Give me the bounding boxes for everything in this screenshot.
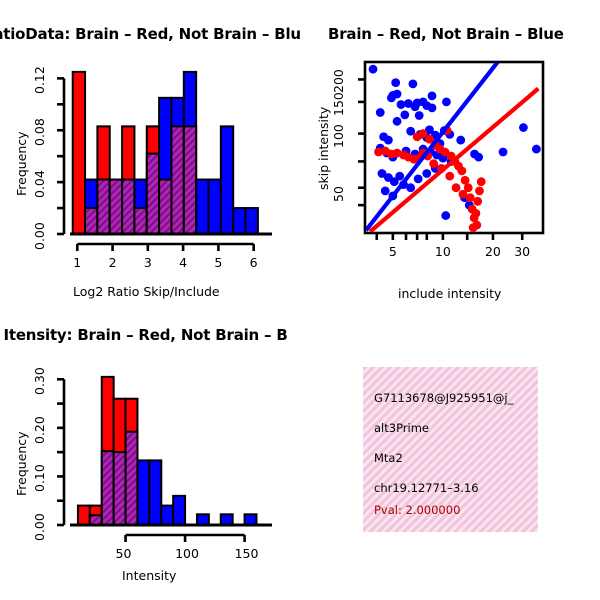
scatter-point [397,100,406,109]
scatter-point [499,148,508,157]
panel-annotation: G7113678@J925951@j_ alt3Prime Mta2 chr19… [300,310,600,600]
panel3-x-axis-label: Intensity [122,568,176,583]
panel2-xtick-10: 10 [435,244,451,259]
scatter-point [519,123,528,132]
scatter-point [459,190,468,199]
scatter-point [414,174,423,183]
histogram-bin [97,126,109,234]
info-line-pval: Pval: 2.000000 [374,503,460,517]
panel1-ytick-0: 0.00 [32,222,47,250]
panel1-ytick-2: 0.08 [32,118,47,146]
scatter-point [381,186,390,195]
scatter-point [532,145,541,154]
scatter-point [452,183,461,192]
panel1-xtick-1: 1 [73,255,81,270]
scatter-point [457,167,466,176]
histogram-bin [245,514,257,525]
scatter-point [442,97,451,106]
histogram-bin [197,514,209,525]
panel3-y-axis-label: Frequency [14,431,29,496]
histogram-bin [221,126,233,234]
scatter-point [406,183,415,192]
histogram-bin [137,460,149,525]
histogram-bin [159,98,171,234]
scatter-point [393,117,402,126]
panel1-xtick-5: 5 [214,255,222,270]
scatter-point [477,177,486,186]
scatter-point [429,159,438,168]
panel2-plot [300,0,600,310]
scatter-point [411,102,420,111]
histogram-bin [90,506,102,525]
histogram-bin [110,180,122,234]
histogram-bin [221,514,233,525]
panel3-ytick-2: 0.20 [32,416,47,444]
scatter-point [387,93,396,102]
histogram-bin [134,180,146,234]
panel1-xtick-6: 6 [250,255,258,270]
panel-intensity-scatter: Brain – Red, Not Brain – Blue include in… [300,0,600,310]
panel3-ytick-3: 0.30 [32,367,47,395]
panel2-xtick-20: 20 [485,244,501,259]
panel-ratio-histogram: RatioData: Brain – Red, Not Brain – Blu … [0,0,300,310]
panel2-y-axis-label: skip intensity [316,107,331,190]
scatter-point [369,65,378,74]
panel2-x-axis-label: include intensity [398,286,501,301]
scatter-point [422,169,431,178]
histogram-bin [147,126,159,234]
info-line-coordinates: chr19.12771–3.16 [374,481,479,495]
histogram-bin [209,180,221,234]
scatter-point [428,91,437,100]
panel2-xtick-5: 5 [389,244,397,259]
info-line-event-id: G7113678@J925951@j_ [374,391,513,405]
scatter-point [400,111,409,120]
panel3-xtick-50: 50 [116,546,132,561]
scatter-point [473,197,482,206]
panel2-plot-frame [365,62,543,233]
panel1-y-axis-label: Frequency [14,131,29,196]
scatter-point [391,78,400,87]
scatter-point [376,108,385,117]
scatter-point [384,136,393,145]
scatter-point [395,172,404,181]
panel1-ytick-3: 0.12 [32,67,47,95]
histogram-bin [149,460,161,525]
figure-canvas: RatioData: Brain – Red, Not Brain – Blu … [0,0,600,600]
panel1-ytick-1: 0.04 [32,170,47,198]
scatter-point [445,172,454,181]
scatter-point [415,111,424,120]
panel2-ytick-200: 200 [331,70,346,94]
panel2-ytick-50: 50 [331,186,346,202]
info-line-gene-symbol: Mta2 [374,451,403,465]
panel2-data-layer [366,61,541,232]
info-box: G7113678@J925951@j_ alt3Prime Mta2 chr19… [363,367,538,532]
panel3-ytick-1: 0.10 [32,465,47,493]
scatter-point [456,136,465,145]
panel3-ytick-0: 0.00 [32,513,47,541]
scatter-point [472,209,481,218]
histogram-bin [122,126,134,234]
panel-gene-intensity-histogram: ne Itensity: Brain – Red, Not Brain – B … [0,310,300,600]
histogram-bin [161,506,173,525]
panel1-xtick-4: 4 [179,255,187,270]
histogram-bin [171,98,183,234]
histogram-bin [85,180,97,234]
histogram-bin [246,208,258,234]
histogram-bin [196,180,208,234]
histogram-bin [102,377,114,525]
info-line-event-type: alt3Prime [374,421,429,435]
scatter-point [472,221,481,230]
scatter-point [474,153,483,162]
panel3-xtick-150: 150 [235,546,259,561]
histogram-bin [173,496,185,525]
panel2-ytick-150: 150 [331,92,346,116]
panel2-xtick-30: 30 [514,244,530,259]
histogram-bin [233,208,245,234]
panel2-ytick-100: 100 [331,124,346,148]
scatter-point [441,211,450,220]
histogram-bin [184,72,196,234]
panel1-xtick-2: 2 [109,255,117,270]
scatter-point [408,79,417,88]
histogram-bin [78,506,90,525]
panel1-x-axis-label: Log2 Ratio Skip/Include [73,284,220,299]
scatter-point [428,103,437,112]
panel1-xtick-3: 3 [144,255,152,270]
histogram-bin [126,399,138,525]
histogram-bin [114,399,126,525]
scatter-point [475,186,484,195]
panel3-xtick-100: 100 [175,546,199,561]
histogram-bin [73,72,85,234]
